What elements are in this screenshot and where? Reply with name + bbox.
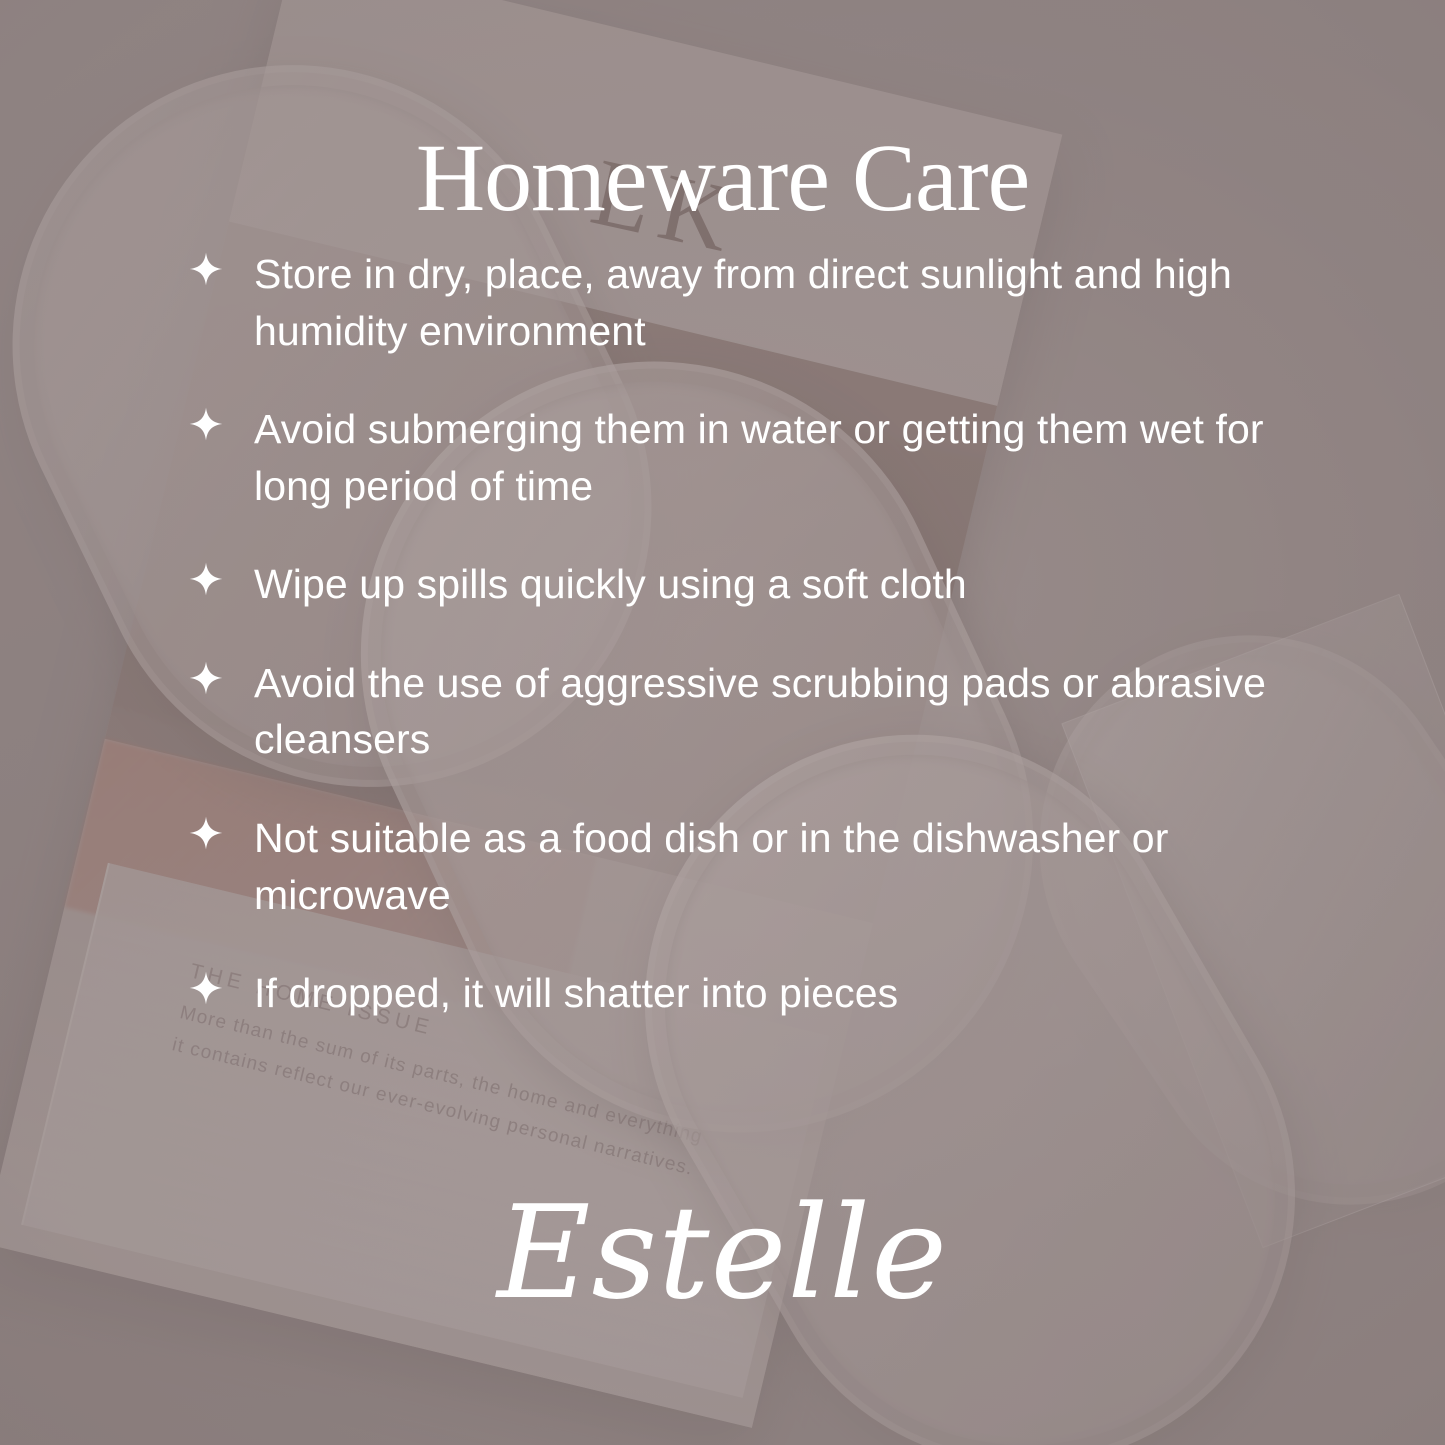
sparkle-star-icon [186,556,226,602]
list-item-label: Store in dry, place, away from direct su… [254,246,1286,359]
list-item-label: Avoid submerging them in water or gettin… [254,401,1286,514]
list-item: Avoid submerging them in water or gettin… [186,401,1286,514]
list-item-label: If dropped, it will shatter into pieces [254,965,1286,1022]
list-item: If dropped, it will shatter into pieces [186,965,1286,1022]
list-item: Avoid the use of aggressive scrubbing pa… [186,655,1286,768]
sparkle-star-icon [186,655,226,701]
sparkle-star-icon [186,965,226,1011]
list-item: Wipe up spills quickly using a soft clot… [186,556,1286,613]
sparkle-star-icon [186,246,226,292]
list-item-label: Not suitable as a food dish or in the di… [254,810,1286,923]
poster-content: Homeware Care Store in dry, place, away … [0,0,1445,1445]
care-instruction-list: Store in dry, place, away from direct su… [186,246,1286,1022]
list-item: Not suitable as a food dish or in the di… [186,810,1286,923]
sparkle-star-icon [186,810,226,856]
list-item-label: Avoid the use of aggressive scrubbing pa… [254,655,1286,768]
poster-canvas: LK THE HOME ISSUE More than the sum of i… [0,0,1445,1445]
sparkle-star-icon [186,401,226,447]
list-item-label: Wipe up spills quickly using a soft clot… [254,556,1286,613]
brand-signature: Estelle [0,1190,1445,1318]
list-item: Store in dry, place, away from direct su… [186,246,1286,359]
page-title: Homeware Care [0,126,1445,230]
